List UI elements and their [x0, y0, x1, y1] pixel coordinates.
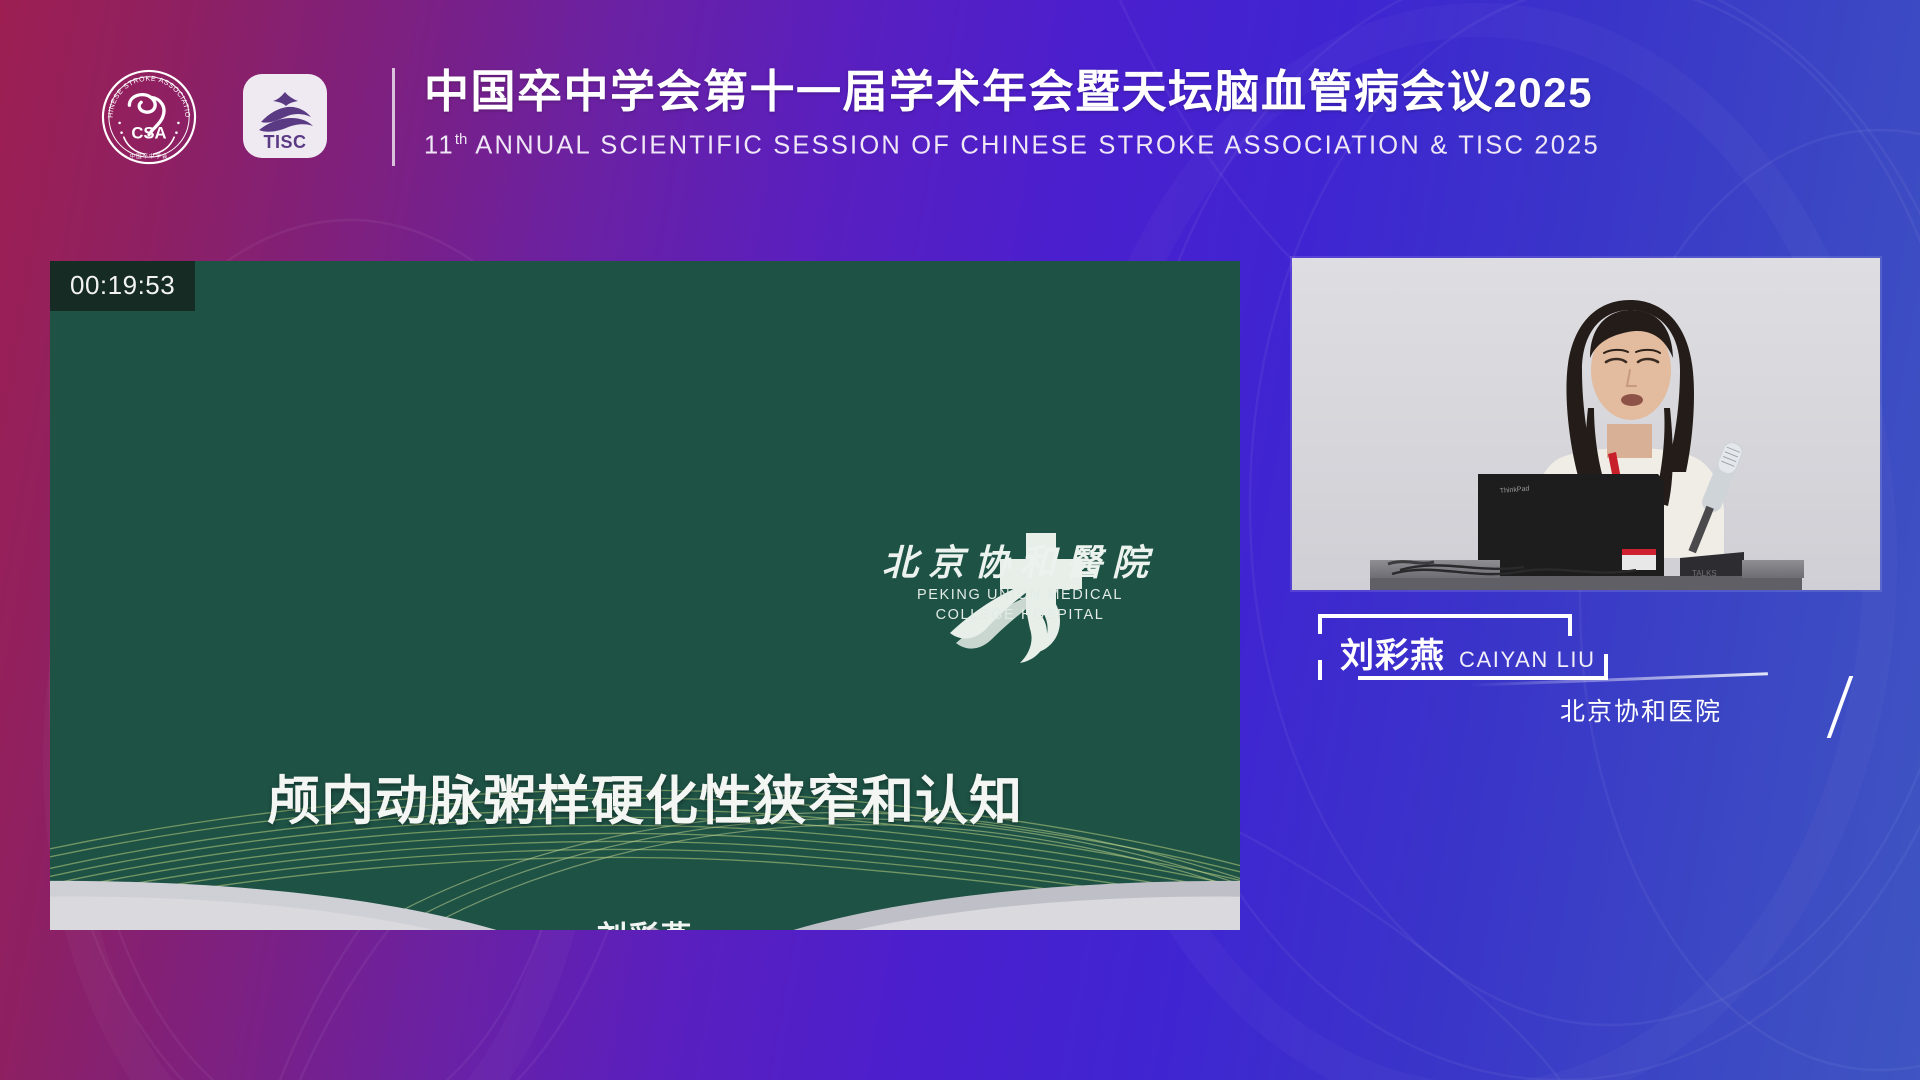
hospital-name-en-line1: PEKING UNION MEDICAL — [860, 585, 1180, 605]
csa-logo-icon: CHINESE STROKE ASSOCIATION CSA 中国卒中学会 — [100, 68, 198, 166]
speaker-name-en: CAIYAN LIU — [1459, 647, 1596, 673]
hospital-name-en-line2: COLLEGE HOSPITAL — [860, 605, 1180, 625]
presenter-video-feed[interactable]: ThinkPad TALKS — [1292, 258, 1880, 590]
nameplate-border-left-upper — [1318, 614, 1322, 634]
tisc-logo-icon: TISC — [243, 74, 327, 158]
svg-text:中国卒中学会: 中国卒中学会 — [130, 152, 169, 160]
conference-title-en: 11th ANNUAL SCIENTIFIC SESSION OF CHINES… — [424, 123, 1600, 163]
svg-text:CSA: CSA — [131, 124, 166, 143]
svg-text:TISC: TISC — [263, 132, 306, 152]
elapsed-time-badge: 00:19:53 — [50, 261, 195, 311]
conference-title-en-rest: ANNUAL SCIENTIFIC SESSION OF CHINESE STR… — [475, 132, 1600, 160]
speaker-affiliation-block: 北京协和医院 — [1560, 692, 1722, 728]
speaker-name-cn: 刘彩燕 — [1340, 628, 1445, 677]
slide-main-title: 颅内动脉粥样硬化性狭窄和认知 — [50, 759, 1240, 835]
hospital-name-cn: 北京协和醫院 — [860, 541, 1180, 585]
header-divider — [392, 68, 395, 166]
speaker-name-row: 刘彩燕 CAIYAN LIU — [1340, 628, 1596, 677]
ordinal-suffix: th — [455, 131, 468, 148]
presentation-slide-panel[interactable]: 00:19:53 北京协和醫院 PEKING UNION MEDICAL COL… — [50, 261, 1240, 930]
conference-year: 2025 — [1494, 69, 1593, 116]
speaker-affiliation: 北京协和医院 — [1560, 698, 1722, 726]
hospital-branding: 北京协和醫院 PEKING UNION MEDICAL COLLEGE HOSP… — [860, 541, 1180, 625]
speaker-nameplate: 刘彩燕 CAIYAN LIU — [1318, 614, 1608, 680]
slide-presenter-name: 刘彩燕 — [50, 912, 1240, 930]
conference-title-cn: 中国卒中学会第十一届学术年会暨天坛脑血管病会议2025 — [424, 64, 1600, 121]
nameplate-border-top — [1318, 614, 1568, 618]
nameplate-border-left-lower — [1318, 660, 1322, 680]
conference-title-en-prefix: 11 — [424, 132, 455, 160]
header-title-block: 中国卒中学会第十一届学术年会暨天坛脑血管病会议2025 11th ANNUAL … — [424, 64, 1600, 163]
conference-title-cn-text: 中国卒中学会第十一届学术年会暨天坛脑血管病会议 — [424, 66, 1494, 117]
conference-header: CHINESE STROKE ASSOCIATION CSA 中国卒中学会 TI… — [0, 0, 1920, 200]
video-frame-content: ThinkPad TALKS — [1292, 258, 1880, 590]
